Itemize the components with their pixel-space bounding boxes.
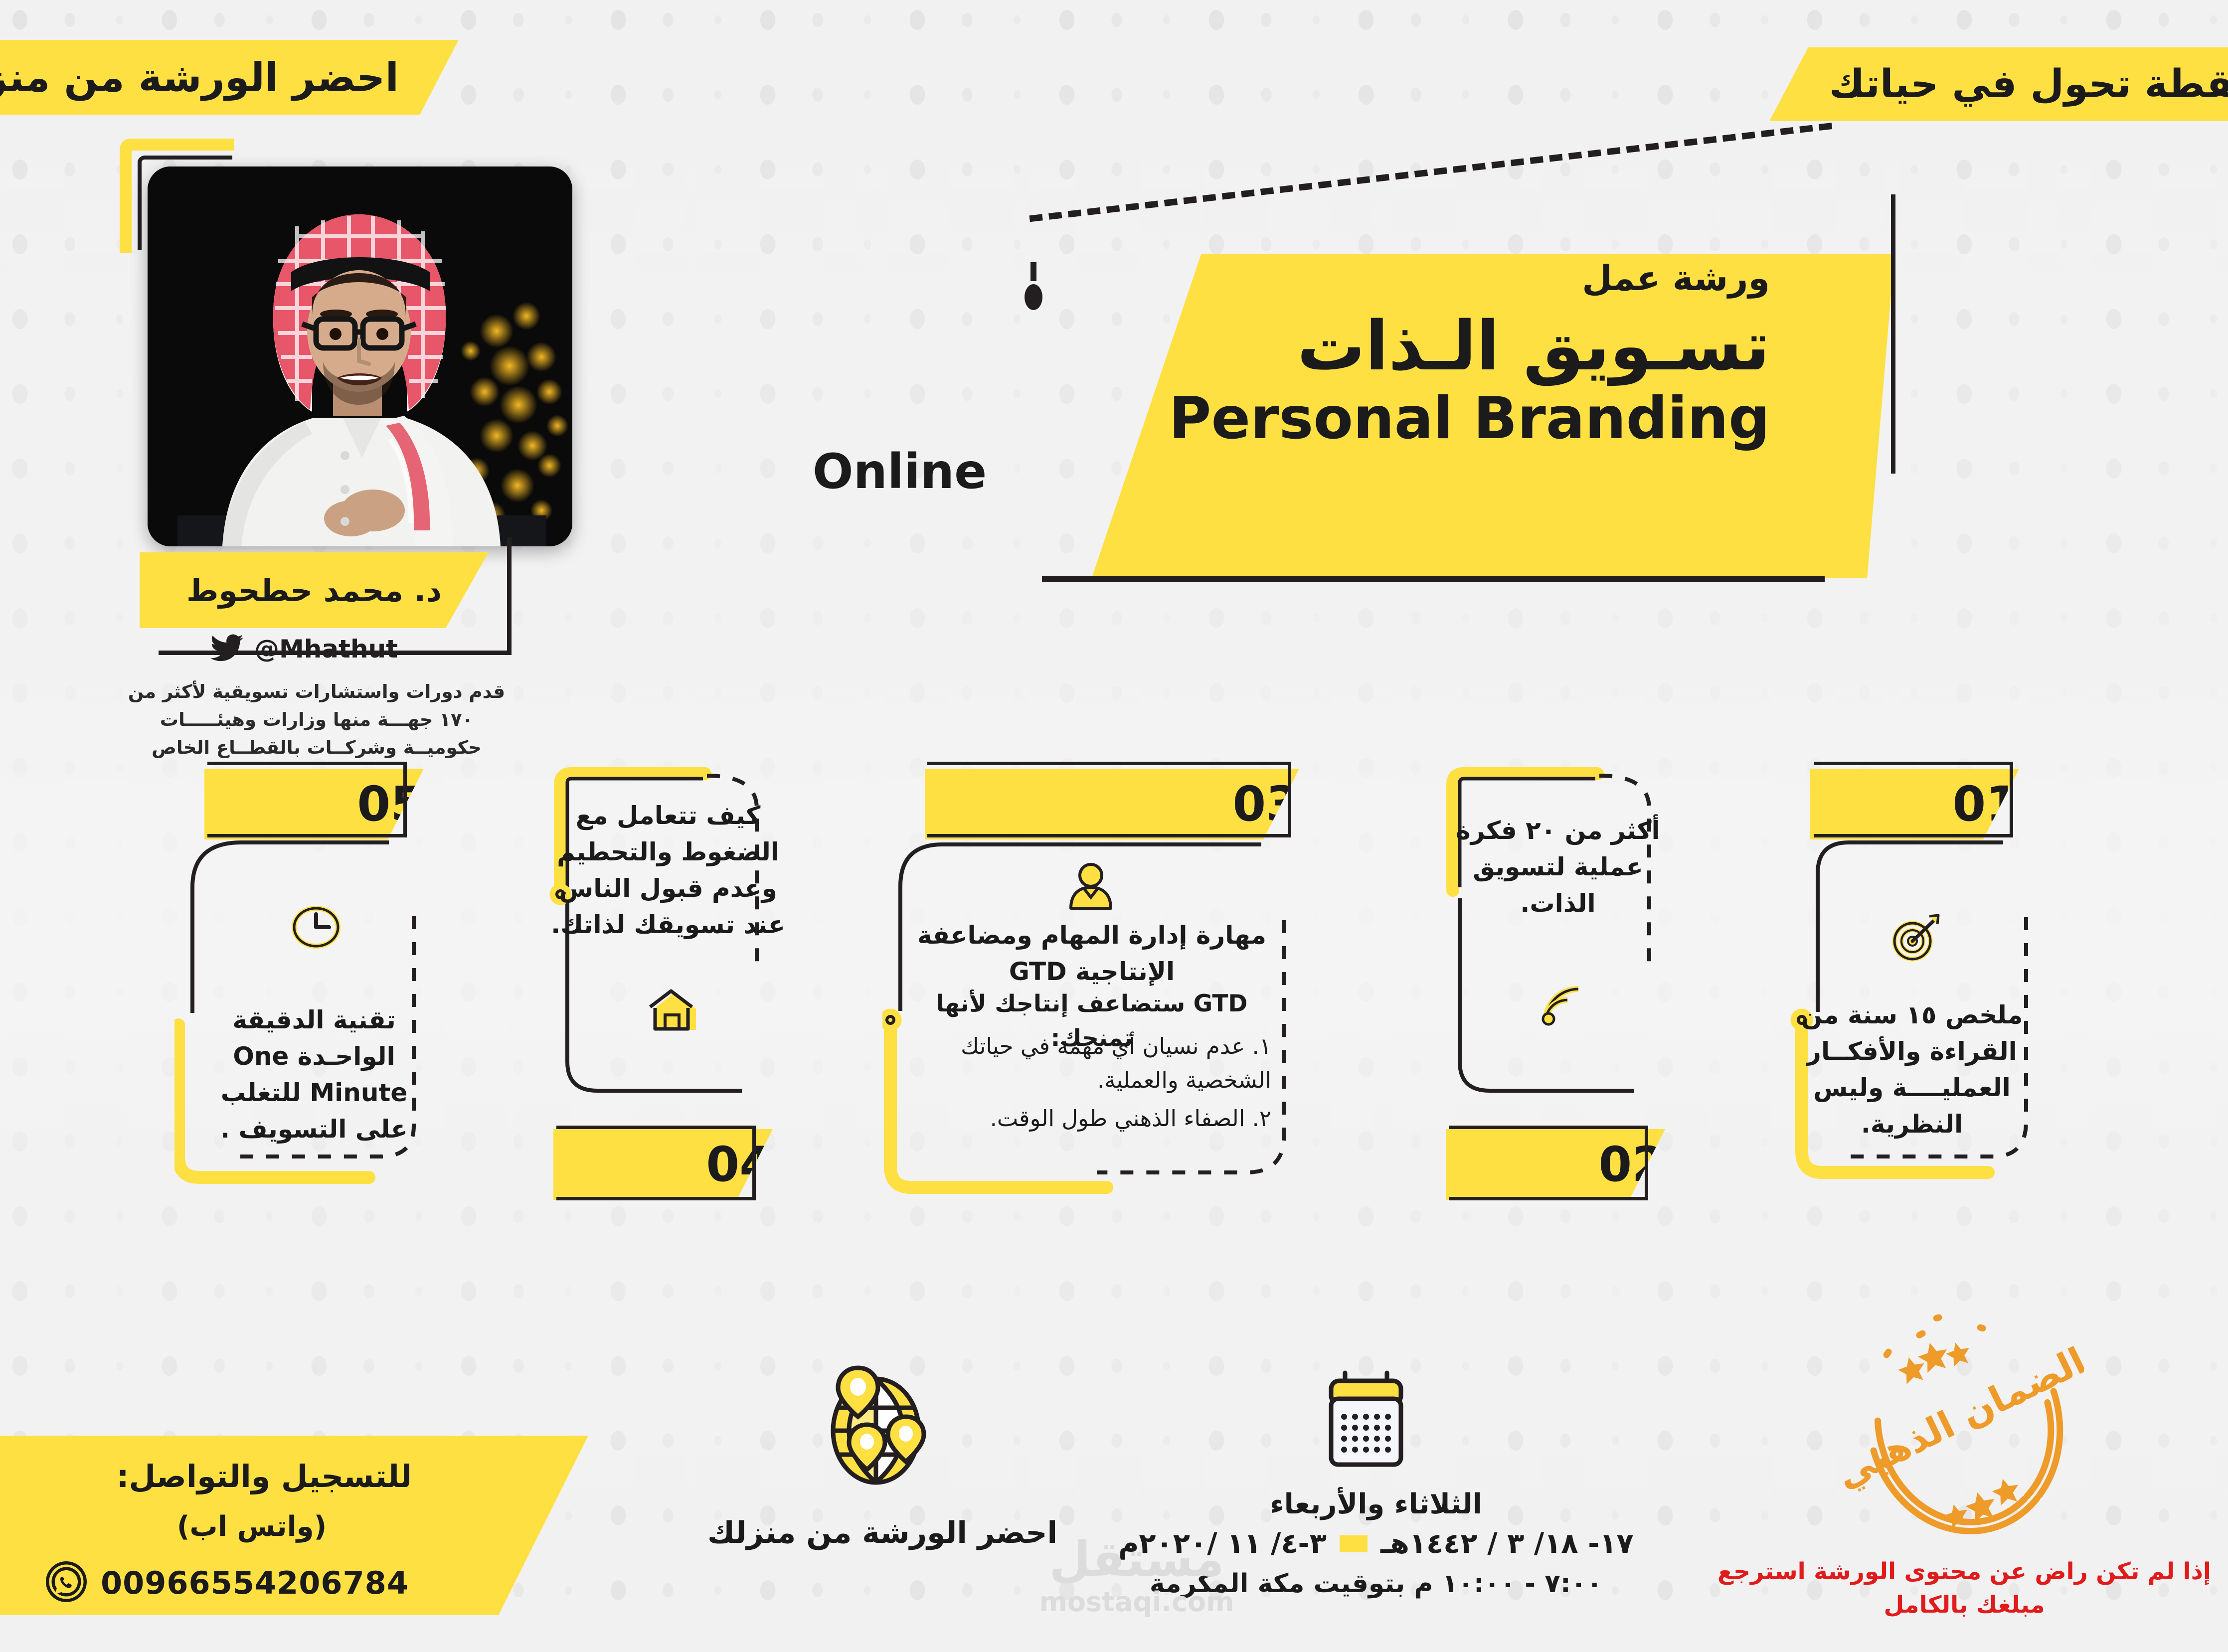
date-separator — [1340, 1535, 1368, 1552]
speaker-handle-label: @Mhathut — [254, 635, 398, 663]
date-time-label: ٧:٠٠ - ١٠:٠٠ م بتوقيت مكة المكرمة — [1087, 1569, 1665, 1599]
globe-caption: احضر الورشة من منزلك — [613, 1515, 1152, 1550]
poster-canvas: احضر الورشة من منزلك نقطة تحول في حياتك — [0, 0, 2228, 1652]
feature-card-01: 01 ملخص ١٥ سنة من القراءة والأ — [1760, 758, 2069, 1206]
header-banner-right-label: نقطة تحول في حياتك — [1799, 62, 2228, 107]
target-icon — [1888, 912, 1944, 964]
card-05-text: تقنية الدقيقة الواحـدة One Minute للتغلب… — [194, 1002, 434, 1148]
title-right-rule — [1891, 194, 1895, 474]
card-05-number-frame — [207, 762, 407, 837]
card-02-number-frame — [1449, 1126, 1648, 1200]
home-icon — [647, 987, 700, 1034]
speaker-name-label: د. محمد حطحوط — [186, 572, 442, 609]
title-main-english: Personal Branding — [892, 386, 1770, 451]
title-bottom-rule — [1042, 576, 1825, 582]
speaker-portrait-photo — [148, 166, 572, 546]
card-01-number-frame — [1814, 762, 2013, 837]
globe-block — [763, 1361, 992, 1492]
date-hijri: ١٧- ١٨/ ٣ / ١٤٤٢هـ — [1380, 1527, 1634, 1560]
date-gregorian: ٣-٤/ ١١ /٢٠٢٠م — [1118, 1527, 1327, 1560]
clock-icon — [288, 902, 344, 954]
feature-card-04: كيف تتعامل مع الضغوط والتحطيم وعدم قبول … — [518, 758, 828, 1206]
twitter-bird-icon — [210, 634, 243, 664]
header-banner-left: احضر الورشة من منزلك — [0, 40, 459, 115]
title-text-group: ورشة عمل تسـويق الـذات Personal Branding — [892, 259, 1870, 451]
header-banner-left-label: احضر الورشة من منزلك — [0, 54, 429, 101]
person-icon — [1066, 862, 1116, 912]
feature-card-02: أكثر من ٢٠ فكرة عملية لتسويق الذات. 02 — [1406, 758, 1715, 1206]
speaker-bio: قدم دورات واستشارات تسويقية لأكثر من ١٧٠… — [120, 678, 514, 762]
card-01-text: ملخص ١٥ سنة من القراءة والأفكــار العملي… — [1795, 997, 2029, 1143]
globe-pins-icon — [815, 1483, 940, 1492]
card-03-title: مهارة إدارة المهام ومضاعفة الإنتاجية GTD — [907, 917, 1276, 990]
header-banner-right: نقطة تحول في حياتك — [1769, 47, 2228, 121]
guarantee-stamp: الضمان الذهبي — [1845, 1306, 2084, 1540]
card-02-text: أكثر من ٢٠ فكرة عملية لتسويق الذات. — [1441, 813, 1675, 922]
signal-icon — [1540, 982, 1584, 1029]
title-online-label: Online — [813, 444, 987, 499]
title-dashed-line — [1029, 123, 1837, 263]
speaker-handle-row[interactable]: @Mhathut — [165, 629, 444, 669]
title-main-arabic: تسـويق الـذات — [892, 309, 1770, 384]
speaker-photo-frame — [134, 150, 582, 548]
whatsapp-icon[interactable] — [45, 1560, 88, 1605]
speaker-name-banner: د. محمد حطحوط — [140, 552, 489, 628]
feature-card-05: 05 تقنية الدقيقة الواحـدة One Minute للت… — [165, 758, 474, 1206]
calendar-icon — [1317, 1468, 1415, 1478]
guarantee-note: إذا لم تكن راض عن محتوى الورشة استرجع مب… — [1715, 1555, 2214, 1622]
contact-channel-label: (واتس اب) — [0, 1510, 504, 1543]
title-kicker: ورشة عمل — [892, 259, 1770, 298]
card-03-detail-2: ٢. الصفاء الذهني طول الوقت. — [912, 1102, 1271, 1136]
date-lines: الثلاثاء والأربعاء ١٧- ١٨/ ٣ / ١٤٤٢هـ ٣-… — [1087, 1488, 1665, 1599]
feature-card-03: 03 مهارة إدارة المهام ومضاعفة الإنتاجية … — [877, 758, 1306, 1211]
contact-title: للتسجيل والتواصل: — [0, 1458, 528, 1494]
calendar-block — [1286, 1366, 1446, 1478]
date-row: ١٧- ١٨/ ٣ / ١٤٤٢هـ ٣-٤/ ١١ /٢٠٢٠م — [1087, 1527, 1665, 1560]
card-04-number-frame — [556, 1126, 756, 1200]
card-03-number-frame — [927, 762, 1291, 837]
card-03-detail-1: ١. عدم نسيان أي مهمة في حياتك الشخصية وا… — [912, 1029, 1271, 1098]
date-day-label: الثلاثاء والأربعاء — [1087, 1488, 1665, 1520]
contact-phone-number: 00966554206784 — [101, 1565, 409, 1601]
workshop-title-block: ورشة عمل تسـويق الـذات Personal Branding… — [892, 194, 1924, 593]
contact-phone-row[interactable]: 00966554206784 — [45, 1560, 484, 1605]
card-04-text: كيف تتعامل مع الضغوط والتحطيم وعدم قبول … — [548, 798, 788, 943]
